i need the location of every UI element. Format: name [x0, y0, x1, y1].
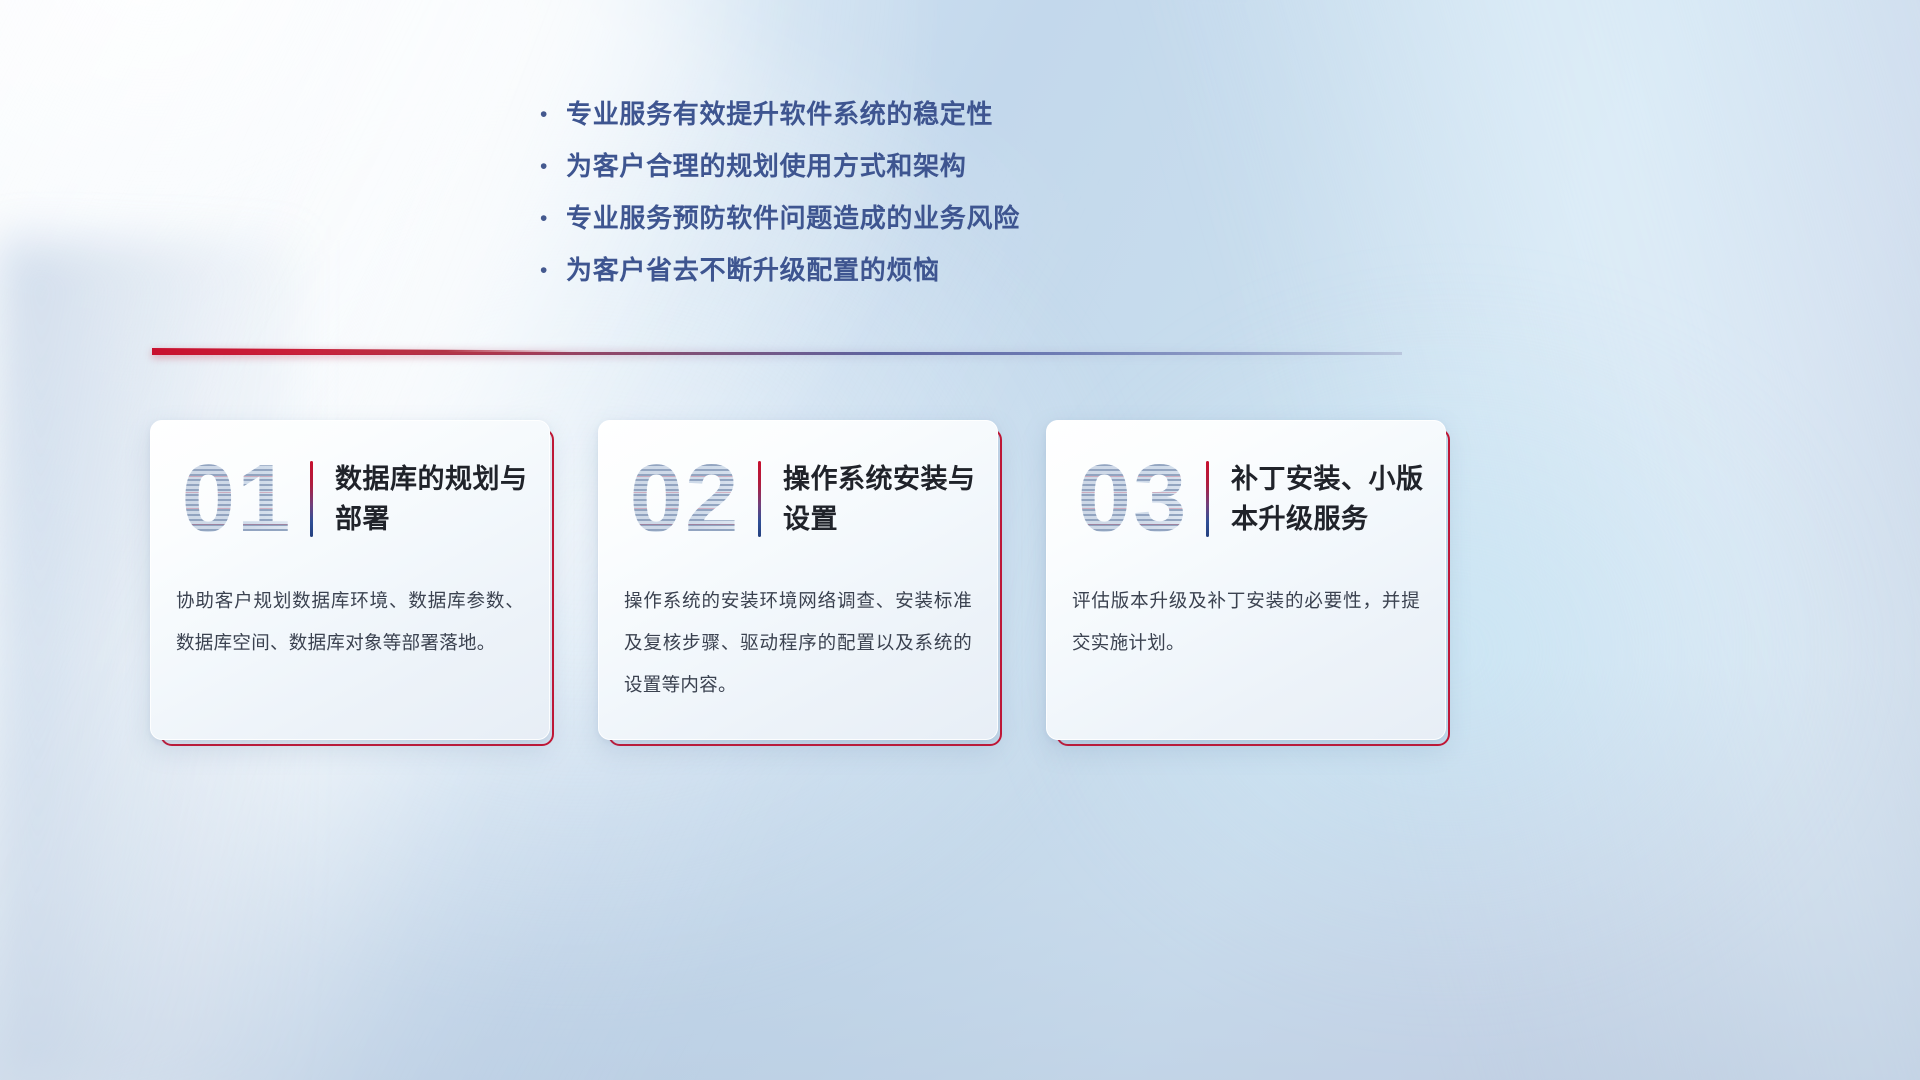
- card-title: 操作系统安装与设置: [783, 459, 998, 539]
- card-divider-bar: [758, 461, 761, 537]
- bullet-item-4: • 为客户省去不断升级配置的烦恼: [540, 248, 1180, 300]
- card-number-red-tint: 03: [1062, 444, 1204, 554]
- service-card-group: 01 01 数据库的规划与部署 协助客户规划数据库环境、数据库参数、数据库空间、…: [150, 420, 1770, 750]
- section-divider: [152, 346, 1402, 362]
- benefits-bullet-list: • 专业服务有效提升软件系统的稳定性 • 为客户合理的规划使用方式和架构 • 专…: [540, 92, 1180, 300]
- card-surface: 02 02 操作系统安装与设置 操作系统的安装环境网络调查、安装标准及复核步骤、…: [598, 420, 998, 740]
- service-card-01[interactable]: 01 01 数据库的规划与部署 协助客户规划数据库环境、数据库参数、数据库空间、…: [150, 420, 550, 740]
- bullet-point-icon: •: [540, 144, 566, 189]
- card-description: 评估版本升级及补丁安装的必要性，并提交实施计划。: [1072, 580, 1420, 664]
- card-header: 03 03 补丁安装、小版本升级服务: [1046, 434, 1446, 564]
- card-number-watermark: 01 01: [166, 444, 308, 554]
- card-header: 02 02 操作系统安装与设置: [598, 434, 998, 564]
- bullet-point-icon: •: [540, 248, 566, 293]
- card-description: 操作系统的安装环境网络调查、安装标准及复核步骤、驱动程序的配置以及系统的设置等内…: [624, 580, 972, 706]
- card-header: 01 01 数据库的规划与部署: [150, 434, 550, 564]
- card-surface: 01 01 数据库的规划与部署 协助客户规划数据库环境、数据库参数、数据库空间、…: [150, 420, 550, 740]
- bullet-item-label: 为客户合理的规划使用方式和架构: [566, 144, 967, 189]
- card-number-watermark: 02 02: [614, 444, 756, 554]
- service-card-03[interactable]: 03 03 补丁安装、小版本升级服务 评估版本升级及补丁安装的必要性，并提交实施…: [1046, 420, 1446, 740]
- card-description: 协助客户规划数据库环境、数据库参数、数据库空间、数据库对象等部署落地。: [176, 580, 524, 664]
- bullet-item-label: 为客户省去不断升级配置的烦恼: [566, 248, 940, 293]
- bullet-item-2: • 为客户合理的规划使用方式和架构: [540, 144, 1180, 196]
- bullet-item-label: 专业服务预防软件问题造成的业务风险: [566, 196, 1020, 241]
- bullet-item-3: • 专业服务预防软件问题造成的业务风险: [540, 196, 1180, 248]
- card-number-watermark: 03 03: [1062, 444, 1204, 554]
- card-number-red-tint: 01: [166, 444, 308, 554]
- card-number-red-tint: 02: [614, 444, 756, 554]
- card-divider-bar: [1206, 461, 1209, 537]
- bullet-item-label: 专业服务有效提升软件系统的稳定性: [566, 92, 993, 137]
- bullet-item-1: • 专业服务有效提升软件系统的稳定性: [540, 92, 1180, 144]
- card-title: 补丁安装、小版本升级服务: [1231, 459, 1446, 539]
- card-divider-bar: [310, 461, 313, 537]
- bullet-point-icon: •: [540, 92, 566, 137]
- bullet-point-icon: •: [540, 196, 566, 241]
- service-card-02[interactable]: 02 02 操作系统安装与设置 操作系统的安装环境网络调查、安装标准及复核步骤、…: [598, 420, 998, 740]
- divider-red-wedge: [152, 348, 572, 354]
- card-title: 数据库的规划与部署: [335, 459, 550, 539]
- card-surface: 03 03 补丁安装、小版本升级服务 评估版本升级及补丁安装的必要性，并提交实施…: [1046, 420, 1446, 740]
